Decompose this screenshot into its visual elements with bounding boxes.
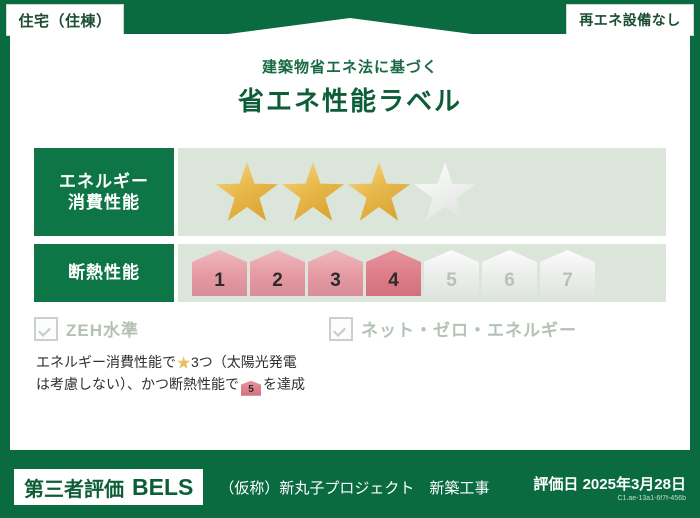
star-icon: [414, 162, 476, 222]
energy-consumption-row: エネルギー 消費性能: [34, 148, 666, 236]
insulation-label-text: 断熱性能: [68, 262, 140, 283]
footer-bar: 第三者評価 BELS （仮称）新丸子プロジェクト 新築工事 評価日 2025年3…: [0, 456, 700, 518]
star-icon: [348, 162, 410, 222]
bels-en-text: BELS: [132, 474, 193, 501]
insulation-row: 断熱性能 1234567: [34, 244, 666, 302]
energy-label-line2: 消費性能: [68, 192, 140, 213]
house-grade-icon: 5: [241, 381, 261, 396]
desc-part1: エネルギー消費性能で: [36, 354, 176, 370]
check-net-zero-label: ネット・ゼロ・エネルギー: [361, 316, 577, 341]
desc-part3: を達成: [263, 376, 305, 392]
insulation-grade-badge: 2: [250, 250, 305, 296]
project-name: （仮称）新丸子プロジェクト 新築工事: [219, 477, 533, 498]
check-zeh[interactable]: ZEH水準: [34, 316, 139, 341]
bels-jp-text: 第三者評価: [24, 473, 124, 502]
building-type-tag: 住宅（住棟）: [6, 4, 124, 36]
insulation-panel: 1234567: [178, 244, 666, 302]
desc-star-count: 3つ（太陽光発電: [191, 354, 297, 370]
title-subtitle: 建築物省エネ法に基づく: [10, 56, 690, 77]
certification-checks: ZEH水準 ネット・ゼロ・エネルギー: [34, 316, 666, 341]
insulation-grade-scale: 1234567: [192, 250, 595, 296]
energy-consumption-panel: [178, 148, 666, 236]
star-rating: [216, 162, 476, 222]
energy-consumption-label: エネルギー 消費性能: [34, 148, 174, 236]
desc-part2: は考慮しない）、かつ断熱性能で: [36, 376, 239, 392]
insulation-grade-badge: 4: [366, 250, 421, 296]
check-zeh-label: ZEH水準: [66, 316, 139, 341]
insulation-grade-badge: 3: [308, 250, 363, 296]
checkbox-icon[interactable]: [329, 317, 353, 341]
star-icon: [177, 356, 190, 369]
label-card: 建築物省エネ法に基づく 省エネ性能ラベル エネルギー 消費性能 断熱性能 123…: [10, 34, 690, 450]
energy-performance-label: 住宅（住棟） 再エネ設備なし 建築物省エネ法に基づく 省エネ性能ラベル エネルギ…: [0, 0, 700, 518]
insulation-grade-badge: 7: [540, 250, 595, 296]
checkbox-icon[interactable]: [34, 317, 58, 341]
insulation-grade-badge: 1: [192, 250, 247, 296]
insulation-grade-badge: 5: [424, 250, 479, 296]
check-net-zero-energy[interactable]: ネット・ゼロ・エネルギー: [329, 316, 577, 341]
energy-label-line1: エネルギー: [59, 171, 149, 192]
page-title: 省エネ性能ラベル: [10, 81, 690, 118]
title-block: 建築物省エネ法に基づく 省エネ性能ラベル: [10, 56, 690, 118]
evaluation-code: C1.ae-13a1-6f7f-456b: [533, 495, 686, 502]
renewable-energy-tag: 再エネ設備なし: [566, 4, 694, 36]
insulation-label: 断熱性能: [34, 244, 174, 302]
star-icon: [282, 162, 344, 222]
bels-badge: 第三者評価 BELS: [14, 469, 203, 505]
description-text: エネルギー消費性能で3つ（太陽光発電 は考慮しない）、かつ断熱性能で5を達成: [36, 352, 366, 396]
evaluation-date: 評価日 2025年3月28日: [533, 473, 686, 494]
insulation-grade-badge: 6: [482, 250, 537, 296]
star-icon: [216, 162, 278, 222]
evaluation-date-block: 評価日 2025年3月28日 C1.ae-13a1-6f7f-456b: [533, 473, 686, 502]
